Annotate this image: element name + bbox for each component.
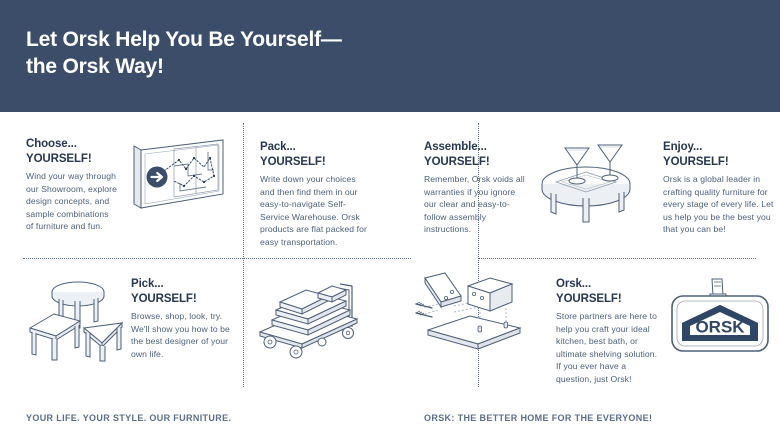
panel-choose-heading: Choose... YOURSELF!	[26, 137, 118, 166]
screw-icon	[416, 311, 432, 317]
maze-sign-illustration	[124, 136, 230, 212]
panel-enjoy-heading: Enjoy... YOURSELF!	[663, 140, 775, 169]
round-table-with-glasses-illustration	[530, 136, 642, 228]
panel-assemble-body: Remember, Orsk voids all warranties if y…	[424, 173, 528, 236]
orsk-hanging-sign-illustration: ORSK	[666, 276, 774, 360]
divider-vertical-left	[243, 123, 244, 387]
footer-tagline-left: YOUR LIFE. YOUR STYLE. OUR FURNITURE.	[26, 413, 231, 423]
panel-pack-heading: Pack... YOURSELF!	[260, 140, 372, 169]
panel-choose-body: Wind your way through our Showroom, expl…	[26, 170, 118, 233]
orsk-sign-label: ORSK	[695, 318, 745, 337]
header-banner: Let Orsk Help You Be Yourself— the Orsk …	[0, 0, 780, 112]
panel-pick-heading: Pick... YOURSELF!	[131, 277, 231, 306]
panel-enjoy-body: Orsk is a global leader in crafting qual…	[663, 173, 775, 236]
divider-horizontal-left	[23, 258, 411, 259]
panel-pick-text: Pick... YOURSELF! Browse, shop, look, tr…	[131, 277, 231, 360]
flatbed-cart-illustration	[252, 272, 370, 364]
panel-orsk-text: Orsk... YOURSELF! Store partners are her…	[556, 277, 660, 386]
panel-assemble-text: Assemble... YOURSELF! Remember, Orsk voi…	[424, 140, 528, 236]
panel-orsk-body: Store partners are here to help you craf…	[556, 310, 660, 386]
panel-assemble-heading: Assemble... YOURSELF!	[424, 140, 528, 169]
divider-horizontal-right	[478, 258, 756, 259]
panel-enjoy-text: Enjoy... YOURSELF! Orsk is a global lead…	[663, 140, 775, 236]
three-tables-illustration	[22, 276, 132, 362]
panel-pack-text: Pack... YOURSELF! Write down your choice…	[260, 140, 372, 249]
footer-tagline-right: ORSK: THE BETTER HOME FOR THE EVERYONE!	[424, 413, 652, 423]
panel-choose-text: Choose... YOURSELF! Wind your way throug…	[26, 137, 118, 233]
flat-pack-parts-illustration	[408, 268, 530, 354]
arrow-right-icon	[147, 167, 168, 188]
poster-page: Let Orsk Help You Be Yourself— the Orsk …	[0, 0, 780, 439]
panel-pack-body: Write down your choices and then find th…	[260, 173, 372, 249]
screw-icon	[416, 302, 432, 308]
panel-orsk-heading: Orsk... YOURSELF!	[556, 277, 660, 306]
page-title: Let Orsk Help You Be Yourself— the Orsk …	[26, 26, 626, 80]
panel-pick-body: Browse, shop, look, try. We'll show you …	[131, 310, 231, 360]
